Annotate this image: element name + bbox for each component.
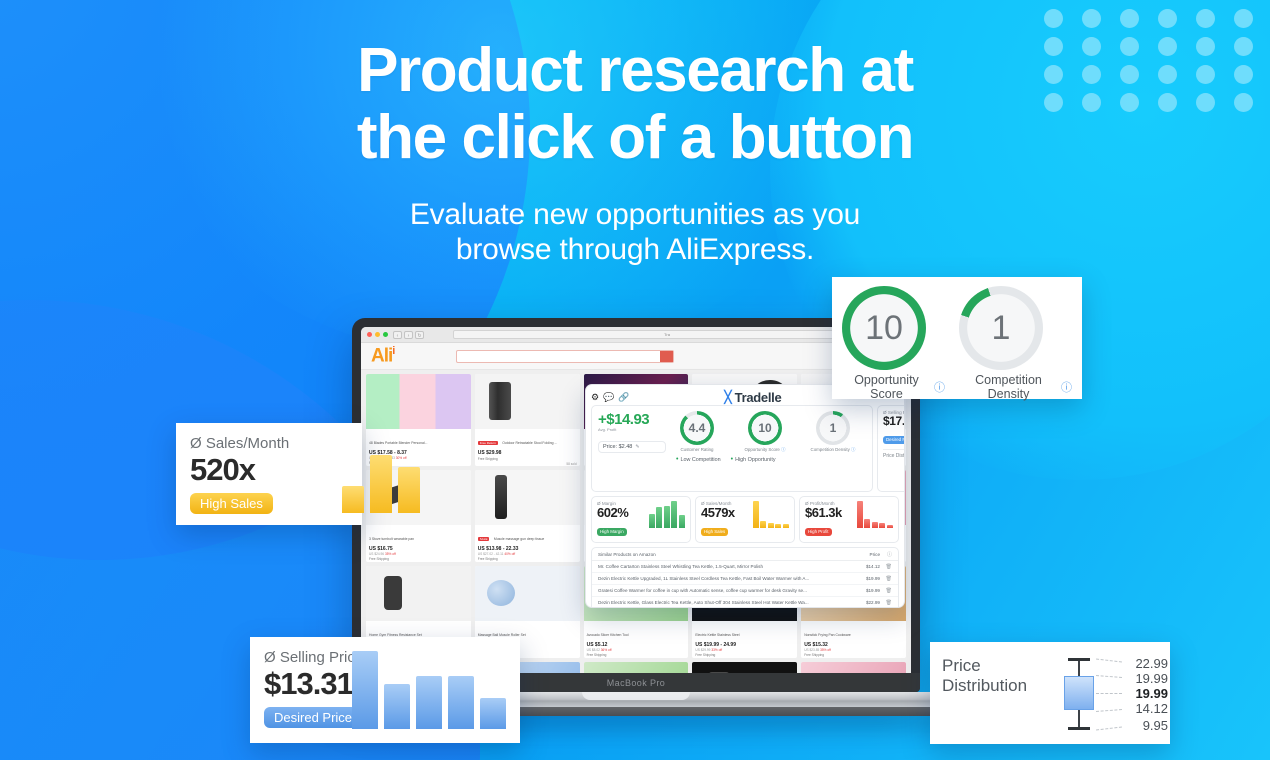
divider <box>883 449 905 450</box>
row-product-name: Dezin Electric Kettle Upgraded, 1L Stain… <box>598 576 854 581</box>
maximize-window-icon[interactable] <box>383 332 388 337</box>
pencil-icon[interactable]: ✎ <box>635 444 639 450</box>
callout-bar <box>384 684 410 729</box>
trash-icon[interactable]: 🗑 <box>880 576 892 582</box>
close-window-icon[interactable] <box>367 332 372 337</box>
callout-price-distribution: Price Distribution 22.9919.9919.9914.129… <box>930 642 1170 744</box>
help-icon[interactable]: ⓘ <box>781 447 785 452</box>
laptop-model-label: MacBook Pro <box>607 678 665 688</box>
product-shipping: Free Shipping <box>804 653 903 657</box>
product-thumbnail <box>475 470 580 525</box>
kpi-bar <box>753 501 759 528</box>
page-title-line-1: Product research at <box>0 38 1270 105</box>
gauge-ring: 1 <box>816 411 850 445</box>
product-old-price: US $29.99 33% off <box>695 648 794 652</box>
product-shipping: Free Shipping <box>369 557 468 561</box>
desired-price-badge: Desired Price <box>264 707 362 728</box>
table-header-name: Similar Products on Amazon <box>598 552 854 557</box>
kpi-value: $61.3k <box>805 505 857 520</box>
product-title: 48 Blades Portable Blender Personal... <box>369 441 427 445</box>
panel-brand: ╳ Tradelle <box>724 390 781 405</box>
callout-scores: 10 Opportunity Score ⓘ 1 Competition Den… <box>832 277 1082 399</box>
callout-sales-label: Ø Sales/Month <box>190 435 362 452</box>
chevron-right-icon[interactable]: › <box>404 331 413 339</box>
high-sales-badge: High Sales <box>190 493 273 514</box>
site-header: Alii <box>361 343 911 370</box>
product-old-price: US $24.96 35% off <box>369 552 468 556</box>
gauge-customer-rating: 4.4Customer Rating <box>666 411 728 453</box>
help-icon[interactable]: ⓘ <box>934 379 945 395</box>
browser-chrome: ‹ › ↻ Tra <box>361 327 911 343</box>
product-title: Electric Kettle Stainless Steel <box>695 633 739 637</box>
boxplot-cap-bottom <box>1068 727 1090 730</box>
kpi-badge: High Profit <box>805 528 832 536</box>
url-text: Tra <box>664 332 670 337</box>
boxplot-box <box>1064 676 1094 710</box>
callout-sales-value: 520x <box>190 454 362 487</box>
kpi-bar <box>679 515 685 528</box>
kpi-badge: High Sales <box>701 528 728 536</box>
kpi-badge: High Margin <box>597 528 627 536</box>
gauge-label: Opportunity Score ⓘ <box>734 447 796 453</box>
avg-profit-block: +$14.93 Avg. Profit Price: $2.48 ✎ <box>598 411 666 453</box>
help-icon[interactable]: ⓘ <box>1061 379 1072 395</box>
trash-icon[interactable]: 🗑 <box>880 564 892 570</box>
kpi-bar <box>879 523 885 528</box>
kpi-value: 602% <box>597 505 649 520</box>
page-title: Product research at the click of a butto… <box>0 0 1270 172</box>
panel-tag: Low Competition <box>676 456 721 463</box>
competition-density-value: 1 <box>992 309 1011 348</box>
kpi--sales-month: Ø Sales/Month4579xHigh Sales <box>695 496 795 543</box>
opportunity-score-gauge: 10 Opportunity Score ⓘ <box>842 286 945 401</box>
product-old-price: US $23.85 35% off <box>804 648 903 652</box>
opportunity-score-ring: 10 <box>842 286 926 370</box>
gauge-label: Competition Density ⓘ <box>802 447 864 453</box>
row-price: $22.99 <box>854 600 880 605</box>
cost-price-field[interactable]: Price: $2.48 ✎ <box>598 441 666 453</box>
chat-icon[interactable]: 💬 <box>603 393 614 402</box>
product-title: Nonstick Frying Pan Cookware <box>804 633 851 637</box>
callout-selling-price: Ø Selling Price $13.31 Desired Price <box>250 637 520 743</box>
kpi-chart <box>649 501 685 528</box>
product-badge: Free Return <box>478 441 498 445</box>
product-shipping: Free Shipping <box>478 457 577 461</box>
product-title: Muscle massage gun deep tissue <box>494 537 544 541</box>
row-product-name: Gratesi Coffee Warmer for coffee in cup … <box>598 588 854 593</box>
product-shipping: Free Shipping <box>587 653 686 657</box>
callout-bar <box>370 455 392 513</box>
minimize-window-icon[interactable] <box>375 332 380 337</box>
row-product-name: Dezin Electric Kettle, Glass Electric Te… <box>598 600 854 605</box>
avg-profit-value: +$14.93 <box>598 411 666 428</box>
callout-price-bars <box>352 651 506 729</box>
selling-price-value: $17.41 <box>883 414 905 428</box>
page-subtitle: Evaluate new opportunities as you browse… <box>0 172 1270 268</box>
panel-primary-row: +$14.93 Avg. Profit Price: $2.48 ✎ 4.4Cu… <box>591 405 899 492</box>
brand-name: Tradelle <box>735 390 782 405</box>
product-badge: SALE <box>478 537 490 541</box>
boxplot-tick-labels: 22.9919.9919.9914.129.95 <box>1120 656 1168 732</box>
product-title: Outdoor Retractable Stool Folding ... <box>502 441 557 445</box>
info-icon[interactable]: ⓘ <box>880 551 892 558</box>
tradelle-extension-panel: ⚙ 💬 🔗 ╳ Tradelle ✕ +$14.93 Avg. Profit P… <box>585 384 905 608</box>
table-header-price: Price <box>854 552 880 557</box>
product-card[interactable]: 48 Blades Portable Blender Personal...US… <box>366 374 471 466</box>
kpi-bar <box>775 524 781 528</box>
kpi-bar <box>887 525 893 528</box>
product-shipping: Free Shipping <box>695 653 794 657</box>
boxplot-cap-top <box>1068 658 1090 661</box>
table-row[interactable]: Dezin Electric Kettle Upgraded, 1L Stain… <box>592 573 898 585</box>
distribution-tick: 22.99 <box>1135 656 1168 671</box>
distribution-tick: 9.95 <box>1143 718 1168 733</box>
reload-icon[interactable]: ↻ <box>415 331 424 339</box>
kpi-bar <box>760 521 766 528</box>
desired-price-badge: Desired Price <box>883 436 905 444</box>
gear-icon[interactable]: ⚙ <box>591 393 599 402</box>
competition-density-label: Competition Density <box>959 373 1058 401</box>
panel-gauge-group: 4.4Customer Rating10Opportunity Score ⓘ1… <box>666 411 866 453</box>
row-price: $19.99 <box>854 588 880 593</box>
gauge-competition-density: 1Competition Density ⓘ <box>802 411 864 453</box>
row-price: $19.99 <box>854 576 880 581</box>
browser-nav-buttons[interactable]: ‹ › ↻ <box>393 331 424 339</box>
product-thumbnail <box>475 374 580 429</box>
share-icon[interactable]: 🔗 <box>618 393 629 402</box>
trash-icon[interactable]: 🗑 <box>880 600 892 606</box>
competition-density-gauge: 1 Competition Density ⓘ <box>959 286 1072 401</box>
kpi-bar <box>783 524 789 528</box>
cost-price-label: Price: $2.48 <box>603 444 632 450</box>
kpi-bar <box>649 514 655 528</box>
help-icon[interactable]: ⓘ <box>851 447 855 452</box>
product-title: 3 Stove turnbolt wearable pan <box>369 537 414 541</box>
row-price: $14.12 <box>854 564 880 569</box>
gauge-opportunity-score: 10Opportunity Score ⓘ <box>734 411 796 453</box>
tick-leader-line <box>1096 727 1122 731</box>
product-thumbnail <box>475 566 580 621</box>
opportunity-score-label: Opportunity Score <box>842 373 931 401</box>
kpi-bar <box>857 501 863 528</box>
product-thumbnail <box>366 374 471 429</box>
opportunity-score-value: 10 <box>865 309 903 348</box>
table-row[interactable]: Dezin Electric Kettle, Glass Electric Te… <box>592 597 898 608</box>
panel-kpi-row: Ø Margin602%High MarginØ Sales/Month4579… <box>591 496 899 543</box>
price-distribution-label: Price Distribution <box>883 453 905 459</box>
page-title-line-2: the click of a button <box>0 105 1270 172</box>
callout-bar <box>416 676 442 729</box>
window-traffic-lights[interactable] <box>367 332 388 337</box>
table-row[interactable]: Mr. Coffee Cartarton Stainless Steel Whi… <box>592 561 898 573</box>
product-sold-count: 58 sold <box>566 462 576 466</box>
callout-sales-bars <box>342 455 420 513</box>
gauge-label: Customer Rating <box>666 447 728 452</box>
kpi-value: 4579x <box>701 505 753 520</box>
competition-density-ring: 1 <box>959 286 1043 370</box>
site-search-input[interactable] <box>456 350 674 363</box>
table-body: Mr. Coffee Cartarton Stainless Steel Whi… <box>592 561 898 608</box>
logo-icon: ╳ <box>724 390 730 404</box>
product-thumbnail <box>366 566 471 621</box>
callout-sales-per-month: Ø Sales/Month 520x High Sales <box>176 423 362 525</box>
product-shipping: Free Shipping <box>478 557 577 561</box>
gauge-ring: 10 <box>748 411 782 445</box>
kpi--margin: Ø Margin602%High Margin <box>591 496 691 543</box>
kpi-bar <box>671 501 677 528</box>
product-title: Avocado Slicer Kitchen Tool <box>587 633 629 637</box>
distribution-tick: 14.12 <box>1135 701 1168 716</box>
tick-leader-line <box>1096 659 1122 663</box>
trash-icon[interactable]: 🗑 <box>880 588 892 594</box>
kpi--profit-month: Ø Profit/Month$61.3kHigh Profit <box>799 496 899 543</box>
tick-leader-line <box>1096 709 1122 712</box>
page-subtitle-line-2: browse through AliExpress. <box>0 233 1270 268</box>
product-price: US $29.98 <box>478 450 577 456</box>
panel-tag-group: Low CompetitionHigh Opportunity <box>676 456 866 463</box>
distribution-boxplot: 22.9919.9919.9914.129.95 <box>1060 656 1160 732</box>
callout-bar <box>352 651 378 729</box>
table-row[interactable]: Gratesi Coffee Warmer for coffee in cup … <box>592 585 898 597</box>
callout-bar <box>398 467 420 513</box>
panel-header-icons[interactable]: ⚙ 💬 🔗 <box>591 393 630 402</box>
kpi-chart <box>753 501 789 528</box>
similar-products-table: Similar Products on Amazon Price ⓘ Mr. C… <box>591 547 899 608</box>
kpi-bar <box>872 522 878 528</box>
kpi-bar <box>664 506 670 528</box>
tick-leader-line <box>1096 675 1122 678</box>
panel-tag: High Opportunity <box>731 456 776 463</box>
kpi-chart <box>857 501 893 528</box>
chevron-left-icon[interactable]: ‹ <box>393 331 402 339</box>
tick-leader-line <box>1096 693 1122 694</box>
kpi-bar <box>656 507 662 528</box>
callout-bar <box>480 698 506 729</box>
page-subtitle-line-1: Evaluate new opportunities as you <box>0 198 1270 233</box>
hero-section: Product research at the click of a butto… <box>0 0 1270 268</box>
product-old-price: US $8.02 36% off <box>587 648 686 652</box>
search-icon[interactable] <box>660 351 673 362</box>
product-card[interactable]: Free Return Outdoor Retractable Stool Fo… <box>475 374 580 466</box>
row-product-name: Mr. Coffee Cartarton Stainless Steel Whi… <box>598 564 854 569</box>
product-old-price: US $27.02 - 42.11 40% off <box>478 552 577 556</box>
opportunity-summary-card: +$14.93 Avg. Profit Price: $2.48 ✎ 4.4Cu… <box>591 405 873 492</box>
callout-bar <box>448 676 474 729</box>
product-card[interactable]: SALE Muscle massage gun deep tissueUS $1… <box>475 470 580 562</box>
table-header: Similar Products on Amazon Price ⓘ <box>592 548 898 561</box>
kpi-bar <box>768 523 774 528</box>
distribution-tick: 19.99 <box>1135 671 1168 686</box>
distribution-tick: 19.99 <box>1135 686 1168 701</box>
callout-bar <box>342 486 364 513</box>
aliexpress-logo[interactable]: Alii <box>371 345 394 367</box>
browser-url-bar[interactable]: Tra <box>453 330 881 339</box>
gauge-ring: 4.4 <box>680 411 714 445</box>
selling-price-card: Ø Selling Price $17.41 Desired Price Pri… <box>877 405 905 492</box>
kpi-bar <box>864 519 870 528</box>
